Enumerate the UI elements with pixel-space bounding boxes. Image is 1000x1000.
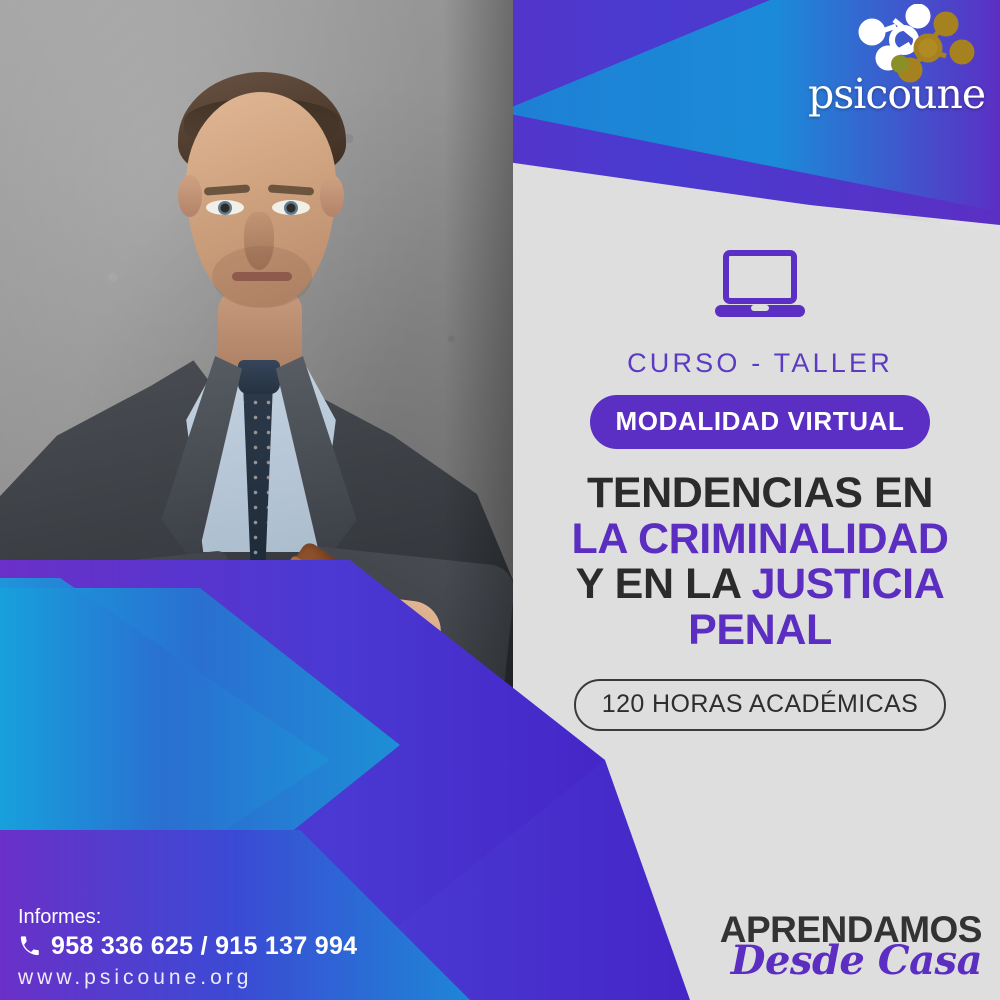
slogan-line-2: Desde Casa <box>720 937 982 984</box>
website-url[interactable]: www.psicoune.org <box>18 966 252 990</box>
title-line-3a: Y EN LA <box>576 560 752 608</box>
title-line-4: PENAL <box>688 606 832 654</box>
course-kicker: CURSO - TALLER <box>540 348 980 379</box>
phone-row[interactable]: 958 336 625 / 915 137 994 <box>18 932 357 961</box>
slogan-block: APRENDAMOS Desde Casa <box>720 909 982 984</box>
brand-wordmark: psicoune <box>808 70 985 118</box>
phone-icon <box>18 935 41 958</box>
title-line-2: LA CRIMINALIDAD <box>572 515 949 563</box>
course-info-block: CURSO - TALLER MODALIDAD VIRTUAL TENDENC… <box>540 250 980 731</box>
informes-label: Informes: <box>18 906 101 929</box>
course-title: TENDENCIAS EN LA CRIMINALIDAD Y EN LA JU… <box>540 471 980 653</box>
laptop-icon <box>713 250 807 322</box>
academic-hours-badge: 120 HORAS ACADÉMICAS <box>574 679 946 731</box>
brand-logo[interactable]: psicoune <box>794 4 994 124</box>
title-line-1: TENDENCIAS EN <box>587 469 933 517</box>
photo-subject-man <box>0 0 513 770</box>
phone-numbers: 958 336 625 / 915 137 994 <box>51 932 357 961</box>
title-line-3b: JUSTICIA <box>752 560 945 608</box>
modality-badge: MODALIDAD VIRTUAL <box>590 395 931 449</box>
poster-canvas: CURSO - TALLER MODALIDAD VIRTUAL TENDENC… <box>0 0 1000 1000</box>
hero-photo <box>0 0 513 770</box>
